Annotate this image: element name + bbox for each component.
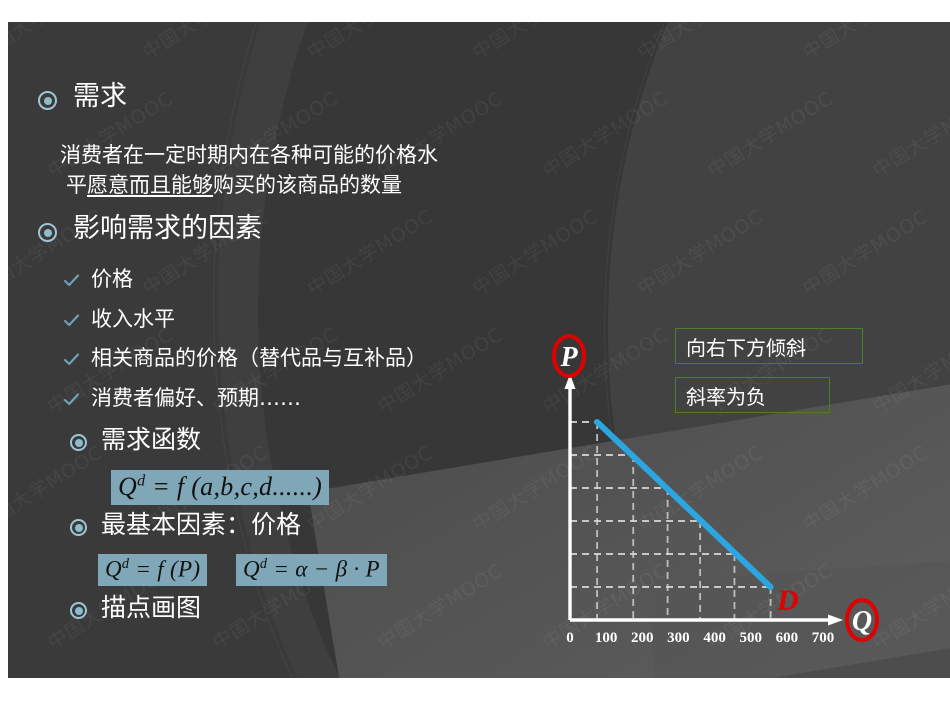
x-tick-label: 400 [703,630,726,646]
list-item-factor-income: 收入水平 [63,305,175,333]
sub-heading-label: 描点画图 [101,592,201,624]
x-tick-label: 200 [631,630,654,646]
factor-label: 相关商品的价格（替代品与互补品） [91,344,427,372]
definition-underlined: 愿意而且能够 [87,173,213,197]
check-icon [63,313,80,330]
y-axis-label: P [559,342,578,373]
slide-stage: 中国大学MOOC中国大学MOOC中国大学MOOC中国大学MOOC中国大学MOOC… [8,22,950,678]
ring-bullet-icon [70,434,87,451]
heading-demand: 需求 [73,80,127,114]
list-item-factor-related-goods: 相关商品的价格（替代品与互补品） [63,344,427,372]
definition-line-1: 消费者在一定时期内在各种可能的价格水 [60,143,438,167]
bullet-demand: 需求 [38,80,127,114]
chart-x-tick-labels: 0100200300400500600700 [566,630,834,646]
definition-paragraph: 消费者在一定时期内在各种可能的价格水 平愿意而且能够购买的该商品的数量 [60,140,560,200]
bullet-factors: 影响需求的因素 [38,212,262,246]
sub-heading-basic-factor: 最基本因素：价格 [70,509,301,541]
x-tick-label: 500 [739,630,762,646]
demand-curve-label: D [776,584,799,617]
formula-demand-of-price: Qd = f (P) [98,554,207,586]
demand-curve-chart: P Q D 0100200300400500600700 [533,322,933,652]
ring-bullet-icon [70,602,87,619]
demand-curve-line [597,422,770,587]
formula-lhs: Q [243,557,260,582]
formula-lhs-superscript: d [137,472,145,489]
chart-gridlines [570,422,771,620]
formula-rhs: = α − β · P [273,557,379,582]
formula-lhs: Q [118,472,137,501]
check-icon [63,273,80,290]
ring-bullet-icon [38,223,57,242]
formula-demand-general: Qd = f (a,b,c,d......) [111,470,329,505]
definition-line-2-prefix: 平 [66,173,87,197]
list-item-factor-price: 价格 [63,265,133,293]
check-icon [63,352,80,369]
ring-bullet-icon [38,91,57,110]
slide: 中国大学MOOC中国大学MOOC中国大学MOOC中国大学MOOC中国大学MOOC… [0,0,950,713]
factor-label: 价格 [91,265,133,293]
chart-svg: P Q D 0100200300400500600700 [533,322,933,652]
factor-label: 消费者偏好、预期…… [91,384,301,412]
x-tick-label: 600 [776,630,799,646]
formula-lhs-superscript: d [122,556,129,572]
slide-content: 需求 消费者在一定时期内在各种可能的价格水 平愿意而且能够购买的该商品的数量 影… [8,22,950,678]
x-axis-label: Q [852,606,872,637]
sub-heading-label: 最基本因素：价格 [101,509,301,541]
formula-demand-linear: Qd = α − β · P [236,554,387,586]
sub-heading-plot-points: 描点画图 [70,592,201,624]
formula-lhs-superscript: d [260,556,267,572]
sub-heading-demand-function: 需求函数 [70,424,201,456]
x-axis-arrowhead [828,615,843,626]
factor-label: 收入水平 [91,305,175,333]
x-tick-label: 100 [595,630,618,646]
chart-demand-curve [597,422,770,587]
formula-rhs: = f (P) [135,557,200,582]
heading-factors: 影响需求的因素 [73,212,262,246]
x-tick-label: 0 [566,630,574,646]
sub-heading-label: 需求函数 [101,424,201,456]
x-tick-label: 700 [812,630,835,646]
formula-rhs: = f (a,b,c,d......) [152,472,322,501]
definition-line-2-suffix: 购买的该商品的数量 [213,173,402,197]
list-item-factor-preferences: 消费者偏好、预期…… [63,384,301,412]
ring-bullet-icon [70,519,87,536]
x-tick-label: 300 [667,630,690,646]
check-icon [63,392,80,409]
formula-lhs: Q [105,557,122,582]
